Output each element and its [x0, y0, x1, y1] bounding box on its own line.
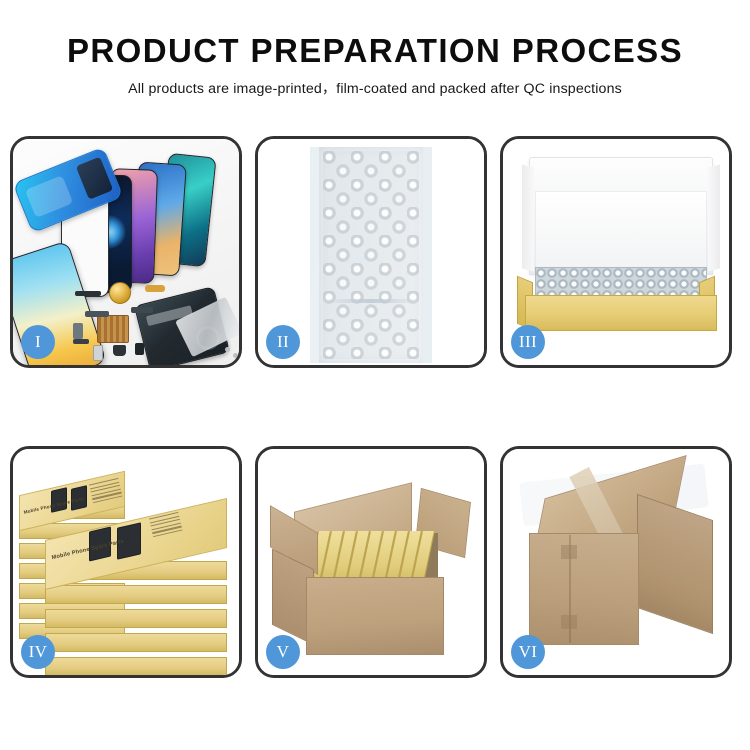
step-badge-3: III [511, 325, 545, 359]
step-badge-2: II [266, 325, 300, 359]
page-header: PRODUCT PREPARATION PROCESS All products… [0, 0, 750, 98]
process-step-panel-2[interactable]: II [255, 136, 487, 368]
step-badge-5: V [266, 635, 300, 669]
process-step-panel-6[interactable]: VI [500, 446, 732, 678]
process-step-panel-5[interactable]: V [255, 446, 487, 678]
process-step-panel-4[interactable]: Mobile Phone Spare Parts Mobile Phone Sp… [10, 446, 242, 678]
step-badge-4: IV [21, 635, 55, 669]
step-badge-6: VI [511, 635, 545, 669]
page-subtitle: All products are image-printed，film-coat… [0, 78, 750, 98]
process-step-panel-3[interactable]: III [500, 136, 732, 368]
page-title: PRODUCT PREPARATION PROCESS [0, 34, 750, 69]
step-badge-1: I [21, 325, 55, 359]
process-step-grid: I II III [10, 136, 740, 678]
process-step-panel-1[interactable]: I [10, 136, 242, 368]
